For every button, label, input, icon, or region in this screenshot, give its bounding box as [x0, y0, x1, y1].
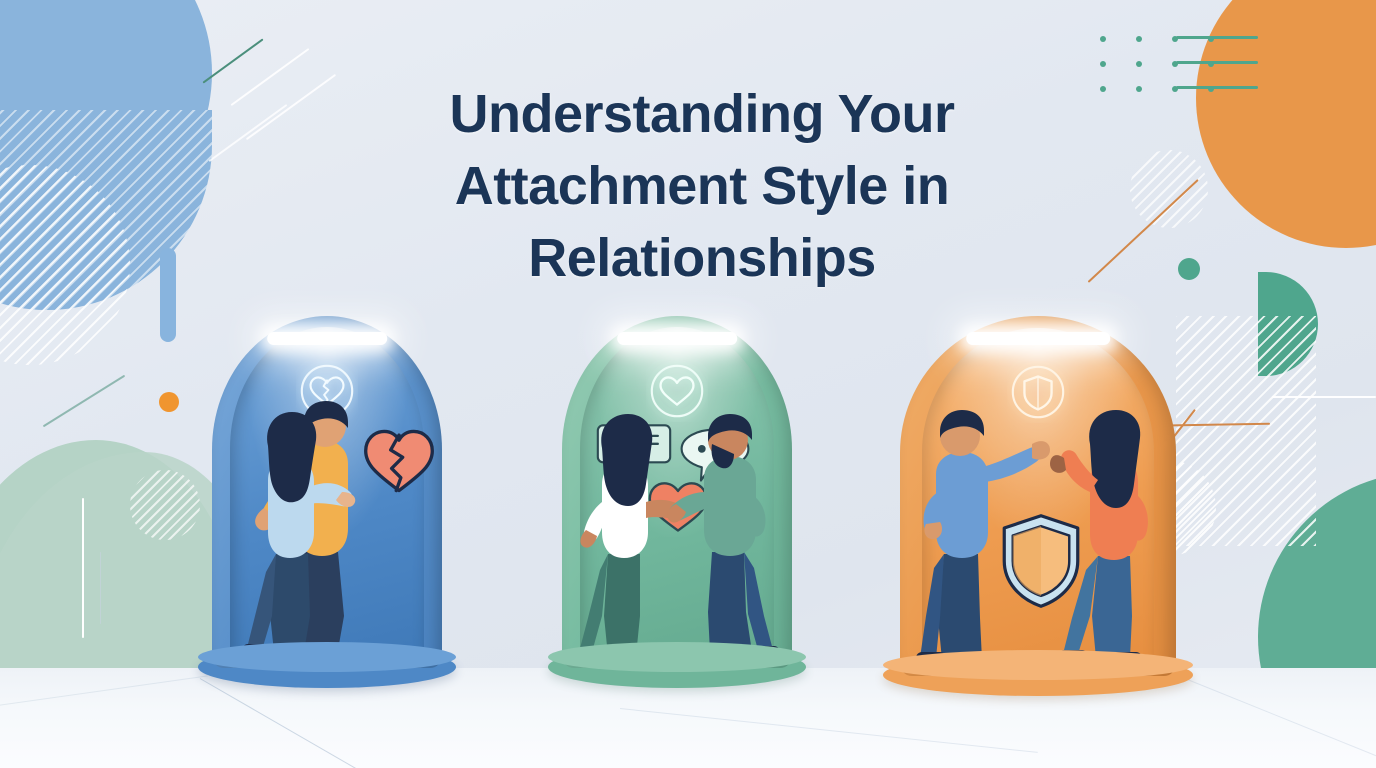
- decorative-dot-teal: [1178, 258, 1200, 280]
- decorative-hatched-circle-left: [130, 470, 200, 540]
- decorative-dot-orange: [159, 392, 179, 412]
- decorative-hatched-circle-top-left: [0, 165, 130, 365]
- page-title: Understanding Your Attachment Style in R…: [352, 78, 1052, 294]
- decorative-bar-blue: [160, 248, 176, 342]
- decorative-diagonal-line-white-2: [246, 74, 336, 140]
- floor-seam-4: [0, 675, 208, 707]
- title-line-3: Relationships: [352, 222, 1052, 294]
- figure-woman-talking: [574, 414, 686, 662]
- booth-platform-top: [198, 642, 456, 672]
- decorative-horizontal-line-white: [1272, 396, 1376, 398]
- floor-seam-1: [200, 678, 478, 768]
- decorative-vertical-line-white: [82, 498, 84, 638]
- decorative-diagonal-line-white-3: [209, 104, 288, 162]
- floor-seam-3: [1180, 676, 1376, 759]
- booth-platform-top: [548, 642, 806, 672]
- figure-woman-hand-up: [1050, 410, 1148, 665]
- figures-avoidant-pair: [900, 316, 1176, 676]
- decorative-dot-grid: [1100, 36, 1226, 111]
- poster-canvas: Understanding Your Attachment Style in R…: [0, 0, 1376, 768]
- floor-seam-2: [620, 708, 1038, 753]
- figures-embracing-couple: [212, 316, 442, 668]
- decorative-diagonal-line-orange: [1088, 179, 1199, 282]
- figure-man-hand-up: [916, 410, 1050, 665]
- decorative-diagonal-line-teal-2: [43, 375, 125, 428]
- figure-man-talking: [667, 414, 780, 659]
- figures-communicating-couple: [562, 316, 792, 668]
- decorative-teal-lines: [1176, 36, 1258, 111]
- decorative-hatched-circle-blue: [0, 110, 212, 310]
- booth-avoidant-attachment[interactable]: [900, 316, 1176, 676]
- booth-secure-attachment[interactable]: [562, 316, 792, 668]
- decorative-hatched-circle-top-right: [1130, 150, 1208, 228]
- decorative-circle-orange: [1196, 0, 1376, 248]
- decorative-circle-blue: [0, 0, 212, 238]
- booth-platform-top: [883, 650, 1192, 680]
- decorative-hatched-corner-right: [1176, 316, 1316, 546]
- decorative-diagonal-line-white-1: [231, 48, 310, 106]
- decorative-diagonal-line-teal: [202, 38, 263, 83]
- decorative-vertical-line-gray: [100, 552, 101, 624]
- booth-anxious-attachment[interactable]: [212, 316, 442, 668]
- title-line-2: Attachment Style in: [352, 150, 1052, 222]
- title-line-1: Understanding Your: [352, 78, 1052, 150]
- decorative-half-moon-teal: [1258, 272, 1318, 376]
